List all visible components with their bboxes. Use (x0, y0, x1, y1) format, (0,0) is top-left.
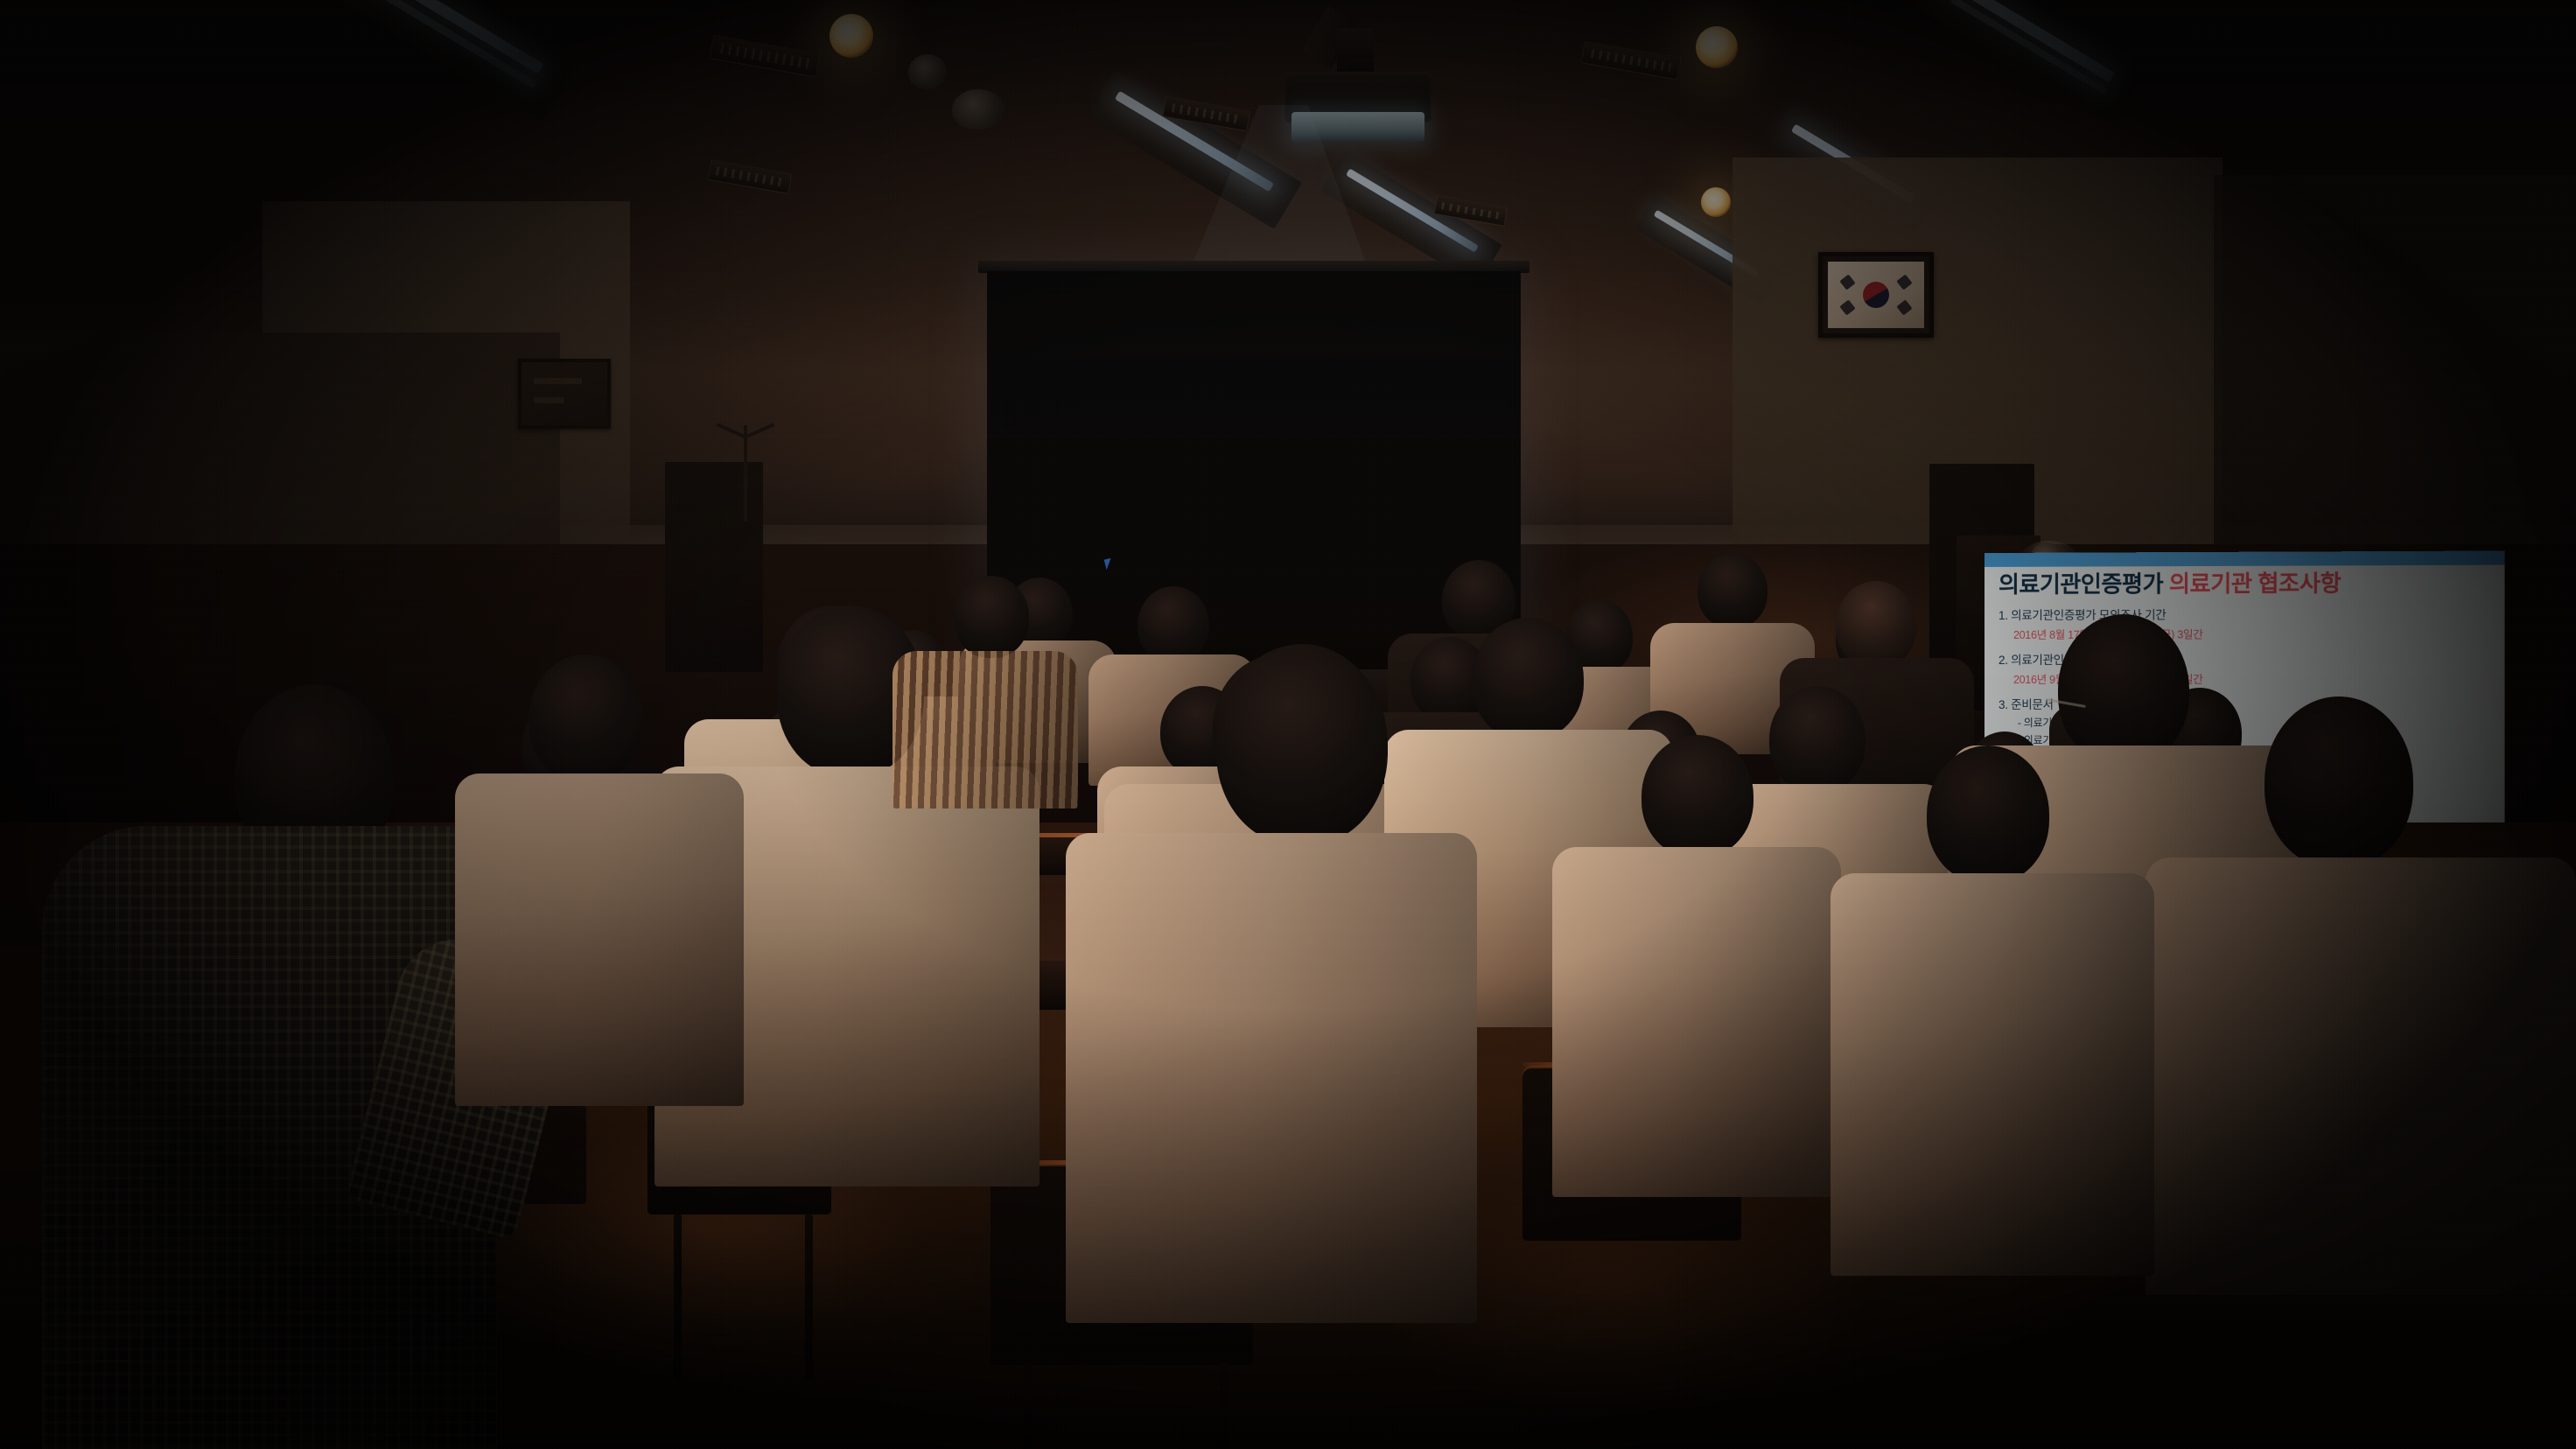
lecture-hall-scene: 의료기관인증평가 의료기관 협조사항 1. 의료기관인증평가 모의조사 기간 2… (0, 0, 2576, 1449)
chair-leg-2b (805, 1214, 813, 1381)
attendee-front-right-white-shading (1830, 873, 2154, 1276)
taeguk-circle (1863, 282, 1889, 308)
attendee-right-lab-coat-head (1641, 735, 1753, 857)
attendee-foreground-center-white-torso (1066, 833, 1477, 1323)
attendee-front-right-white-head (1927, 745, 2049, 884)
attendee-back-2-head (1137, 586, 1209, 663)
cabinet-left (665, 462, 763, 672)
wall-plaque-framed (518, 359, 611, 429)
attendee-front-right-white-torso (1830, 873, 2154, 1276)
projector-lens (1291, 112, 1424, 142)
attendee-mid-3-head (1836, 581, 1916, 668)
attendee-striped-mid-torso (892, 651, 1078, 808)
downlight-far-right (1701, 187, 1731, 217)
chair-leg-3b (1220, 1363, 1228, 1449)
slide-item-1: 1. 의료기관인증평가 모의조사 기간 (1998, 604, 2490, 623)
trigram-gam (1896, 274, 1912, 290)
trigram-gon (1896, 299, 1912, 315)
attendee-glasses-right-head (2058, 614, 2189, 765)
trigram-geon (1839, 274, 1855, 290)
flag-field (1828, 262, 1924, 328)
attendee-striped-mid-shading (892, 651, 1078, 808)
attendee-striped-mid-head (954, 576, 1029, 658)
slide-title-red: 의료기관 협조사항 (2169, 570, 2341, 597)
korean-flag-framed (1818, 252, 1934, 338)
plaque-line-2 (534, 397, 564, 403)
attendee-white-shirt-mid-left-head (528, 654, 642, 782)
attendee-white-shirt-mid-left-shading (455, 773, 744, 1106)
slide-title-blue: 의료기관인증평가 (1998, 570, 2163, 598)
attendee-foreground-center-white-shading (1066, 833, 1477, 1323)
downlight-left (829, 14, 873, 58)
attendee-right-lab-coat-torso (1552, 847, 1841, 1197)
coat-rack (744, 425, 747, 521)
downlight-right (1696, 26, 1738, 68)
attendee-far-right-dark-head (2264, 696, 2413, 868)
attendee-right-white-shirt-head (1769, 686, 1865, 793)
attendee-back-5-head (1697, 553, 1767, 628)
ceiling-speaker-2 (952, 89, 1004, 129)
attendee-far-right-dark-torso (2145, 857, 2576, 1295)
attendee-white-shirt-mid-left-torso (455, 773, 744, 1106)
ceiling-speaker-1 (908, 54, 947, 89)
attendee-right-lab-coat-shading (1552, 847, 1841, 1197)
attendee-center-cream-head (1472, 618, 1584, 740)
plaque-line-1 (534, 378, 582, 384)
slide-title: 의료기관인증평가 의료기관 협조사항 (1998, 570, 2490, 598)
attendee-foreground-center-white-head (1216, 644, 1388, 845)
trigram-ri (1839, 299, 1855, 315)
chair-leg-2a (674, 1214, 682, 1381)
attendee-far-right-dark-shading (2145, 857, 2576, 1295)
chair-leg-3a (1024, 1363, 1032, 1449)
